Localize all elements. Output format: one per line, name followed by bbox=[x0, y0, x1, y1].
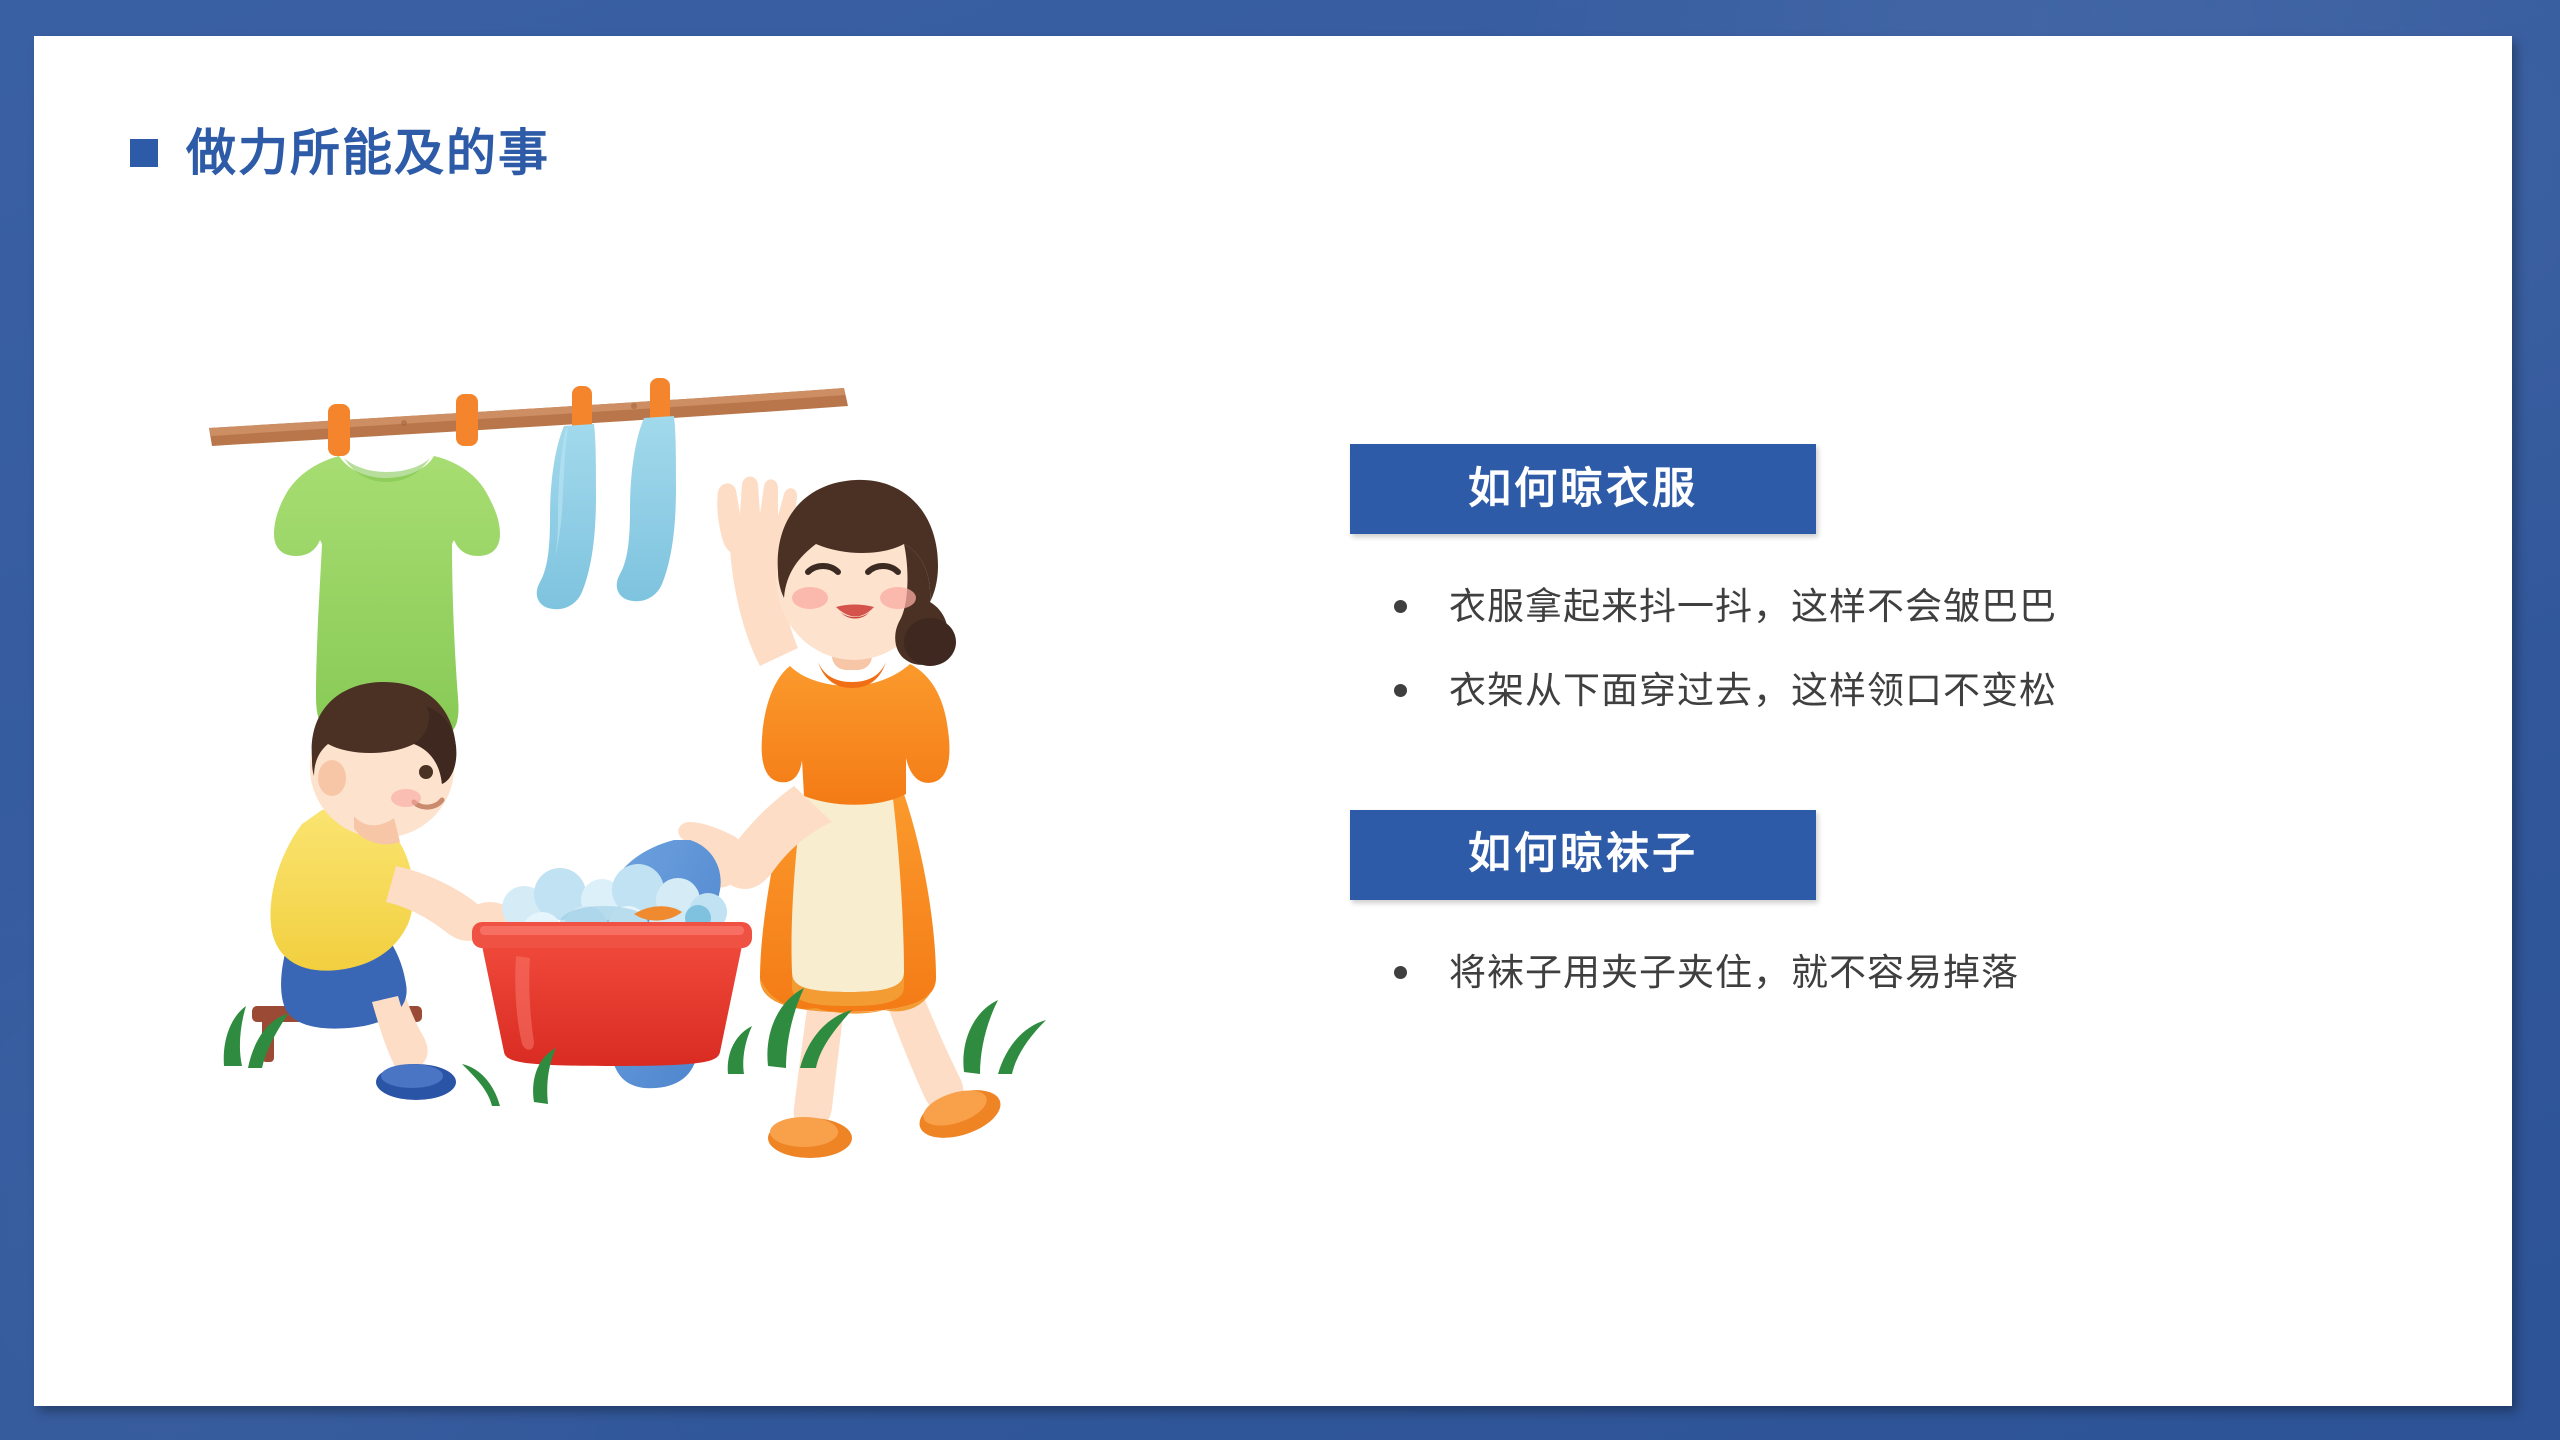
square-bullet-icon bbox=[130, 139, 158, 167]
banner-hang-clothes: 如何晾衣服 bbox=[1350, 444, 1816, 534]
list-item: 衣服拿起来抖一抖，这样不会皱巴巴 bbox=[1394, 582, 2450, 632]
bullet-list-hang-clothes: 衣服拿起来抖一抖，这样不会皱巴巴 衣架从下面穿过去，这样领口不变松 bbox=[1350, 582, 2450, 716]
laundry-illustration bbox=[204, 366, 1244, 1166]
bullet-list-hang-socks: 将袜子用夹子夹住，就不容易掉落 bbox=[1350, 948, 2450, 998]
boy-figure-icon bbox=[252, 682, 516, 1100]
slide-card: 做力所能及的事 bbox=[34, 36, 2512, 1406]
content-panel: 如何晾衣服 衣服拿起来抖一抖，这样不会皱巴巴 衣架从下面穿过去，这样领口不变松 … bbox=[1350, 444, 2450, 998]
banner-hang-socks: 如何晾袜子 bbox=[1350, 810, 1816, 900]
section-hang-clothes: 如何晾衣服 衣服拿起来抖一抖，这样不会皱巴巴 衣架从下面穿过去，这样领口不变松 bbox=[1350, 444, 2450, 716]
banner-hang-socks-label: 如何晾袜子 bbox=[1468, 833, 1698, 876]
bullet-dot-icon bbox=[1394, 966, 1407, 979]
bullet-text: 将袜子用夹子夹住，就不容易掉落 bbox=[1449, 948, 2019, 998]
bullet-text: 衣服拿起来抖一抖，这样不会皱巴巴 bbox=[1449, 582, 2057, 632]
wash-basin-icon bbox=[472, 864, 752, 1066]
blue-socks-icon bbox=[537, 416, 676, 609]
banner-hang-clothes-label: 如何晾衣服 bbox=[1468, 468, 1698, 511]
list-item: 衣架从下面穿过去，这样领口不变松 bbox=[1394, 666, 2450, 716]
slide-root: 做力所能及的事 bbox=[0, 0, 2560, 1440]
list-item: 将袜子用夹子夹住，就不容易掉落 bbox=[1394, 948, 2450, 998]
bullet-dot-icon bbox=[1394, 684, 1407, 697]
page-title-text: 做力所能及的事 bbox=[186, 128, 550, 178]
page-title: 做力所能及的事 bbox=[130, 128, 550, 178]
bullet-dot-icon bbox=[1394, 600, 1407, 613]
bullet-text: 衣架从下面穿过去，这样领口不变松 bbox=[1449, 666, 2057, 716]
section-hang-socks: 如何晾袜子 将袜子用夹子夹住，就不容易掉落 bbox=[1350, 810, 2450, 998]
clothesline-icon bbox=[209, 388, 848, 446]
